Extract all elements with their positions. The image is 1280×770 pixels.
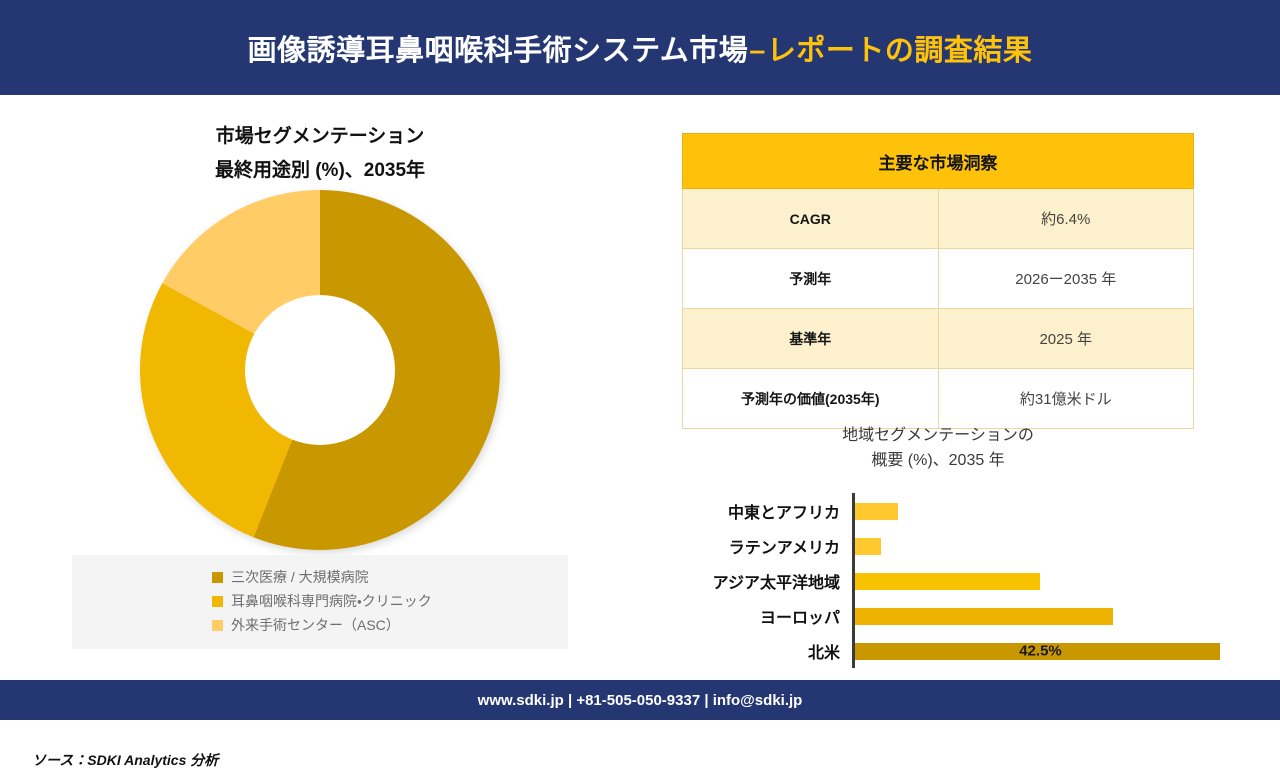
table-row: 基準年 2025 年 bbox=[683, 309, 1194, 369]
right-panel: 主要な市場洞察 CAGR 約6.4% 予測年 2026ー2035 年 基準年 2… bbox=[640, 95, 1280, 680]
bar-fill bbox=[855, 503, 898, 520]
table-header-title: 主要な市場洞察 bbox=[683, 134, 1194, 189]
legend-item: 三次医療 / 大規模病院 bbox=[72, 565, 568, 589]
bar-row: 北米42.5% bbox=[680, 633, 1250, 668]
donut-chart-title-line1: 市場セグメンテーション bbox=[0, 120, 640, 154]
table-row: 予測年 2026ー2035 年 bbox=[683, 249, 1194, 309]
bar-track: 42.5% bbox=[852, 633, 1250, 668]
bar-category-label: ヨーロッパ bbox=[680, 604, 852, 628]
bar-chart-title-line2: 概要 (%)、2035 年 bbox=[682, 448, 1194, 473]
table-cell-key: CAGR bbox=[683, 189, 939, 249]
key-market-insights-table: 主要な市場洞察 CAGR 約6.4% 予測年 2026ー2035 年 基準年 2… bbox=[682, 133, 1194, 429]
left-panel: 市場セグメンテーション 最終用途別 (%)、2035年 56% 三次医療 / 大… bbox=[0, 95, 640, 680]
donut-chart: 56% bbox=[140, 190, 500, 550]
bar-category-label: アジア太平洋地域 bbox=[680, 569, 852, 593]
legend-item-label: 外来手術センター（ASC） bbox=[231, 615, 400, 635]
table-header-row: 主要な市場洞察 bbox=[683, 134, 1194, 189]
table-cell-value: 約31億米ドル bbox=[938, 369, 1194, 429]
table-cell-key: 予測年 bbox=[683, 249, 939, 309]
bar-category-label: 北米 bbox=[680, 639, 852, 663]
legend-swatch-icon bbox=[212, 620, 223, 631]
legend-item-label: 耳鼻咽喉科専門病院・クリニック bbox=[231, 591, 432, 611]
page-title-dash: – bbox=[748, 35, 767, 67]
page-title: 画像誘導耳鼻咽喉科手術システム市場–レポートの調査結果 bbox=[248, 27, 1033, 69]
table-cell-value: 2026ー2035 年 bbox=[938, 249, 1194, 309]
legend-swatch-icon bbox=[212, 596, 223, 607]
table-cell-value: 2025 年 bbox=[938, 309, 1194, 369]
source-note: ソース：SDKI Analytics 分析 bbox=[32, 750, 218, 770]
bar-track bbox=[852, 598, 1250, 633]
footer-contact-text: www.sdki.jp | +81-505-050-9337 | info@sd… bbox=[478, 692, 803, 709]
donut-chart-title-line2: 最終用途別 (%)、2035年 bbox=[0, 154, 640, 188]
bar-fill bbox=[855, 573, 1040, 590]
bar-row: ヨーロッパ bbox=[680, 598, 1250, 633]
legend-item: 耳鼻咽喉科専門病院・クリニック bbox=[72, 589, 568, 613]
regional-bar-chart: 中東とアフリカラテンアメリカアジア太平洋地域ヨーロッパ北米42.5% bbox=[680, 493, 1250, 668]
table-row: CAGR 約6.4% bbox=[683, 189, 1194, 249]
table-row: 予測年の価値(2035年) 約31億米ドル bbox=[683, 369, 1194, 429]
page-title-accent: レポートの調査結果 bbox=[767, 35, 1033, 67]
bar-fill bbox=[855, 538, 881, 555]
donut-chart-hole bbox=[245, 295, 395, 445]
donut-chart-title: 市場セグメンテーション 最終用途別 (%)、2035年 bbox=[0, 120, 640, 188]
bar-value-label: 42.5% bbox=[1019, 642, 1062, 659]
table-cell-key: 予測年の価値(2035年) bbox=[683, 369, 939, 429]
bar-fill bbox=[855, 608, 1113, 625]
bar-row: ラテンアメリカ bbox=[680, 528, 1250, 563]
bar-chart-title: 地域セグメンテーションの 概要 (%)、2035 年 bbox=[682, 423, 1194, 473]
legend-item: 外来手術センター（ASC） bbox=[72, 613, 568, 637]
table-cell-value: 約6.4% bbox=[938, 189, 1194, 249]
page-title-main: 画像誘導耳鼻咽喉科手術システム市場 bbox=[248, 35, 749, 67]
bar-track bbox=[852, 563, 1250, 598]
page-header: 画像誘導耳鼻咽喉科手術システム市場–レポートの調査結果 bbox=[0, 0, 1280, 95]
bar-category-label: 中東とアフリカ bbox=[680, 499, 852, 523]
bar-category-label: ラテンアメリカ bbox=[680, 534, 852, 558]
page-footer: www.sdki.jp | +81-505-050-9337 | info@sd… bbox=[0, 680, 1280, 720]
bar-track bbox=[852, 528, 1250, 563]
bar-chart-title-line1: 地域セグメンテーションの bbox=[682, 423, 1194, 448]
bar-row: 中東とアフリカ bbox=[680, 493, 1250, 528]
donut-legend: 三次医療 / 大規模病院 耳鼻咽喉科専門病院・クリニック 外来手術センター（AS… bbox=[72, 555, 568, 649]
table-cell-key: 基準年 bbox=[683, 309, 939, 369]
legend-swatch-icon bbox=[212, 572, 223, 583]
legend-item-label: 三次医療 / 大規模病院 bbox=[231, 567, 369, 587]
bar-track bbox=[852, 493, 1250, 528]
bar-row: アジア太平洋地域 bbox=[680, 563, 1250, 598]
